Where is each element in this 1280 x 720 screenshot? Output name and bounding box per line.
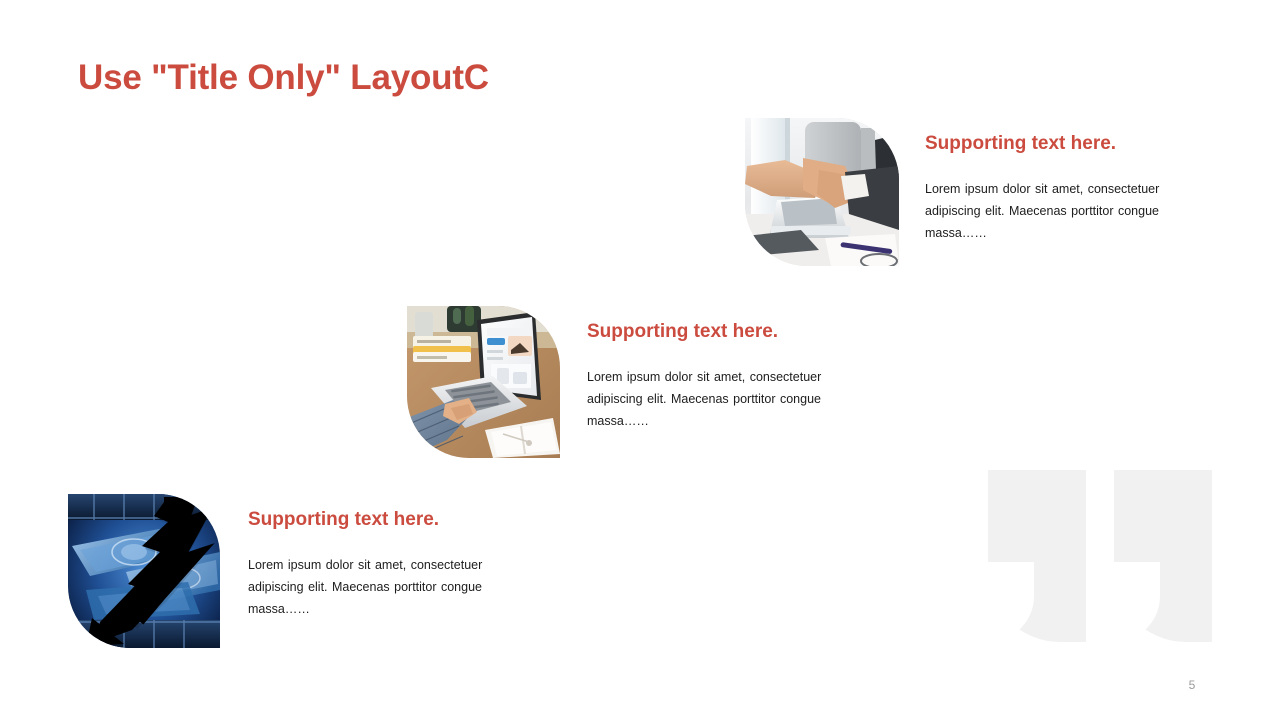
block-text-group: Supporting text here. Lorem ipsum dolor … bbox=[925, 132, 1181, 245]
block-heading: Supporting text here. bbox=[587, 320, 839, 344]
page-number: 5 bbox=[1180, 678, 1204, 692]
page-title: Use "Title Only" LayoutC bbox=[78, 57, 489, 99]
block-heading: Supporting text here. bbox=[248, 508, 500, 532]
block-body: Lorem ipsum dolor sit amet, consectetuer… bbox=[925, 178, 1181, 245]
block-text-group: Supporting text here. Lorem ipsum dolor … bbox=[248, 508, 500, 621]
block-body: Lorem ipsum dolor sit amet, consectetuer… bbox=[587, 366, 839, 433]
block-heading: Supporting text here. bbox=[925, 132, 1181, 156]
declining-arrow-finance-photo bbox=[68, 494, 220, 648]
block-body: Lorem ipsum dolor sit amet, consectetuer… bbox=[248, 554, 500, 621]
quote-mark-icon bbox=[988, 470, 1086, 642]
quote-mark-icon bbox=[1114, 470, 1212, 642]
quote-mark-decoration bbox=[988, 470, 1212, 642]
block-text-group: Supporting text here. Lorem ipsum dolor … bbox=[587, 320, 839, 433]
slide-canvas: Use "Title Only" LayoutC bbox=[0, 0, 1280, 720]
person-using-laptop-photo bbox=[407, 306, 560, 458]
handshake-over-laptop-photo bbox=[745, 118, 899, 266]
